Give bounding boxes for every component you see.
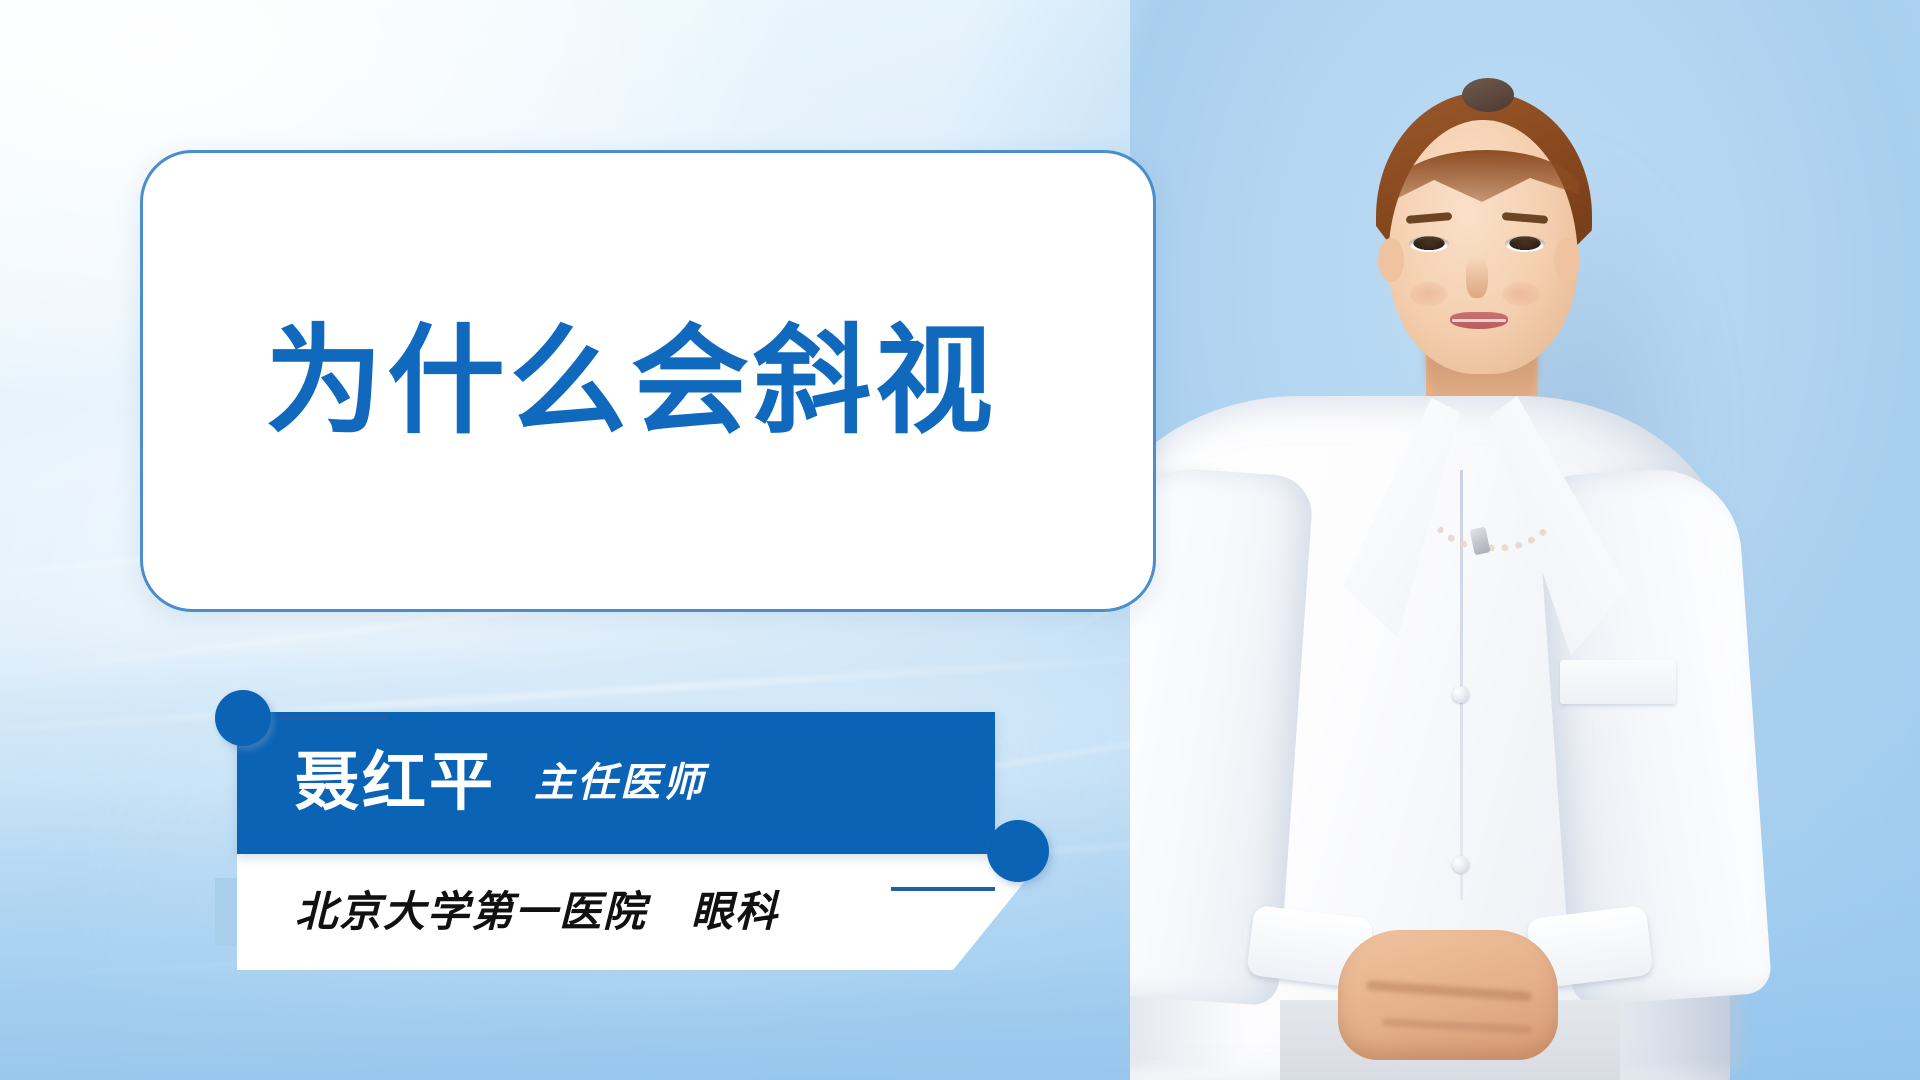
presenter-teeth — [1452, 319, 1506, 322]
presenter-cuff-right — [1526, 905, 1654, 989]
presenter-hand-crease-2 — [1382, 1018, 1532, 1034]
rule-line-icon-right — [891, 887, 995, 891]
page-title: 为什么会斜视 — [265, 321, 997, 441]
circle-marker-icon-left — [215, 690, 271, 746]
presenter-arm-right — [1536, 464, 1772, 1007]
presenter-lapel-left — [1330, 398, 1460, 638]
background-streak-9 — [1081, 445, 1619, 758]
rule-line-icon-left — [279, 716, 387, 720]
presenter-hair-bun — [1462, 78, 1514, 112]
presenter-coat-button-1 — [1452, 686, 1469, 703]
nameplate-doctor-name: 聂红平 — [295, 751, 496, 815]
presenter-cuff-left — [1246, 905, 1374, 989]
presenter-hand-crease-1 — [1366, 980, 1532, 1002]
presenter-eye-left — [1409, 236, 1449, 252]
presenter-coat-placket — [1460, 470, 1463, 900]
slide-canvas: 为什么会斜视 北京大学第一医院 眼科 聂红平 主任医师 — [0, 0, 1920, 1080]
presenter-ear-left — [1378, 238, 1404, 282]
presenter-neck — [1426, 340, 1538, 460]
circle-marker-icon-right — [987, 820, 1049, 882]
pearl-necklace-icon — [1416, 424, 1570, 551]
presenter-eye-right — [1505, 236, 1545, 252]
nameplate-doctor-title: 主任医师 — [534, 763, 706, 803]
presenter-lapel-right — [1490, 396, 1640, 656]
presenter-cheek-right — [1502, 282, 1540, 306]
presenter-trousers — [1280, 1000, 1620, 1080]
presenter-cheek-left — [1410, 282, 1448, 306]
presenter-hair — [1376, 92, 1592, 308]
nameplate-affiliation-plate: 北京大学第一医院 眼科 — [237, 854, 1047, 970]
presenter-shadow — [1460, 120, 1840, 900]
presenter-neck-shade — [1426, 340, 1538, 410]
presenter-nose — [1466, 256, 1488, 298]
presenter-face — [1388, 120, 1578, 374]
title-card: 为什么会斜视 — [140, 150, 1156, 612]
presenter-coat-shade-right — [1580, 470, 1740, 1070]
nameplate-affiliation-text: 北京大学第一医院 眼科 — [295, 891, 779, 933]
nameplate-name-bar: 聂红平 主任医师 — [237, 712, 995, 854]
presenter-coat-button-2 — [1452, 856, 1469, 873]
necklace-pendant-icon — [1469, 527, 1490, 556]
presenter-nameplate: 北京大学第一医院 眼科 聂红平 主任医师 — [215, 690, 1095, 970]
presenter-mouth — [1450, 312, 1508, 329]
presenter-photo — [1130, 0, 1920, 1080]
presenter-ear-right — [1554, 238, 1580, 282]
presenter-hair-fringe — [1386, 150, 1586, 250]
presenter-inner-top — [1430, 436, 1540, 556]
presenter-chest-pocket — [1560, 660, 1676, 704]
presenter-hands — [1338, 930, 1558, 1060]
presenter-eyebrow-right — [1502, 212, 1549, 224]
presenter-backdrop — [1130, 0, 1920, 1080]
presenter-eyebrow-left — [1406, 212, 1453, 224]
presenter-lab-coat — [1130, 396, 1730, 1080]
presenter-arm-left — [1130, 464, 1314, 1007]
